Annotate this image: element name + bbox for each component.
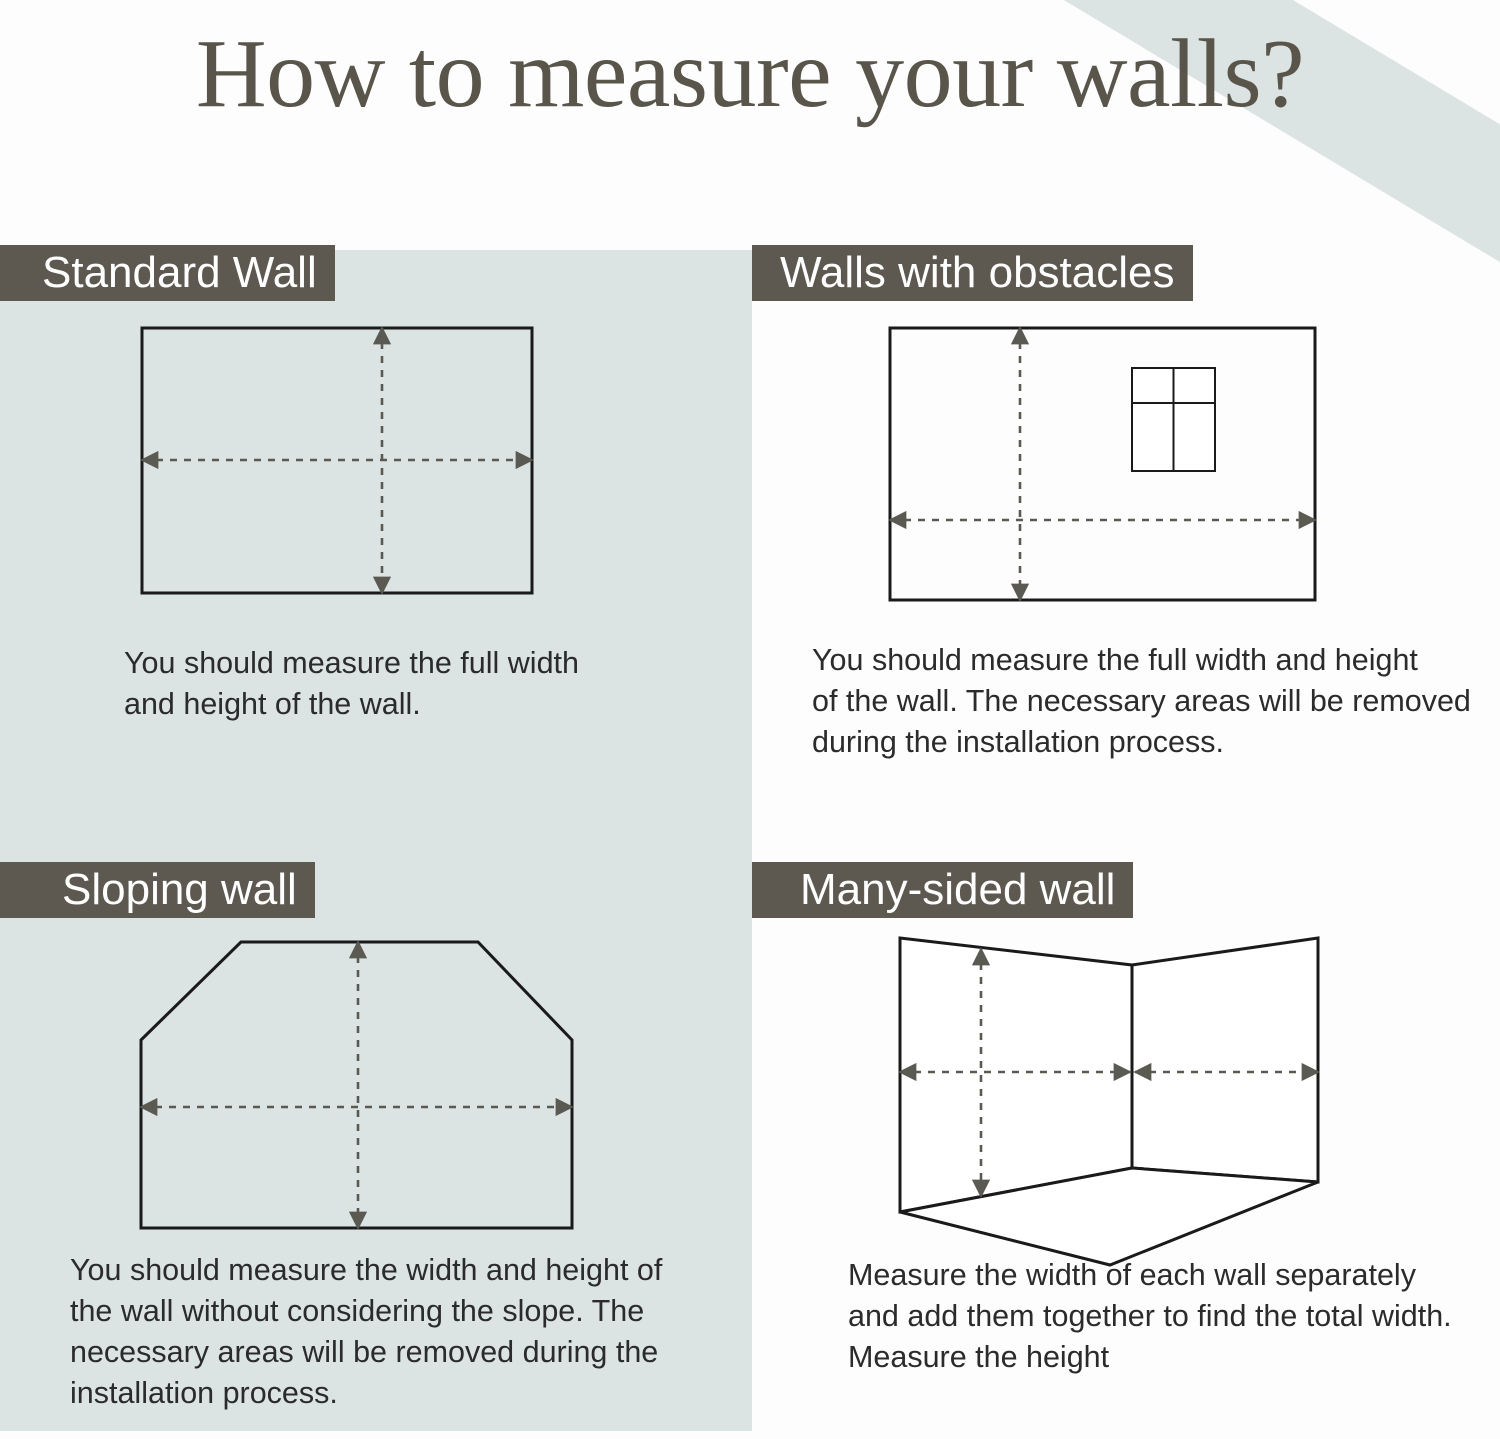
diagram-standard-wall [100, 320, 580, 610]
caption-many-sided-wall: Measure the width of each wall separatel… [848, 1255, 1488, 1378]
caption-standard-wall: You should measure the full width and he… [124, 643, 724, 725]
page-title: How to measure your walls? [0, 22, 1500, 128]
section-heading-many-sided-wall: Many-sided wall [752, 862, 1133, 918]
section-heading-standard-wall: Standard Wall [0, 245, 335, 301]
diagram-walls-with-obstacles [850, 320, 1340, 620]
section-heading-sloping-wall: Sloping wall [0, 862, 315, 918]
sloped-wall-outline [141, 942, 572, 1228]
infographic-page: How to measure your walls? Standard Wall… [0, 0, 1500, 1439]
window-obstacle [1132, 368, 1215, 471]
wall-outline [890, 328, 1315, 600]
caption-walls-with-obstacles: You should measure the full width and he… [812, 640, 1492, 763]
diagram-many-sided-wall [860, 920, 1340, 1270]
right-wall-face [1132, 938, 1318, 1182]
section-heading-walls-with-obstacles: Walls with obstacles [752, 245, 1193, 301]
diagram-sloping-wall [100, 930, 600, 1240]
caption-sloping-wall: You should measure the width and height … [70, 1250, 710, 1414]
left-wall-face [900, 938, 1132, 1212]
